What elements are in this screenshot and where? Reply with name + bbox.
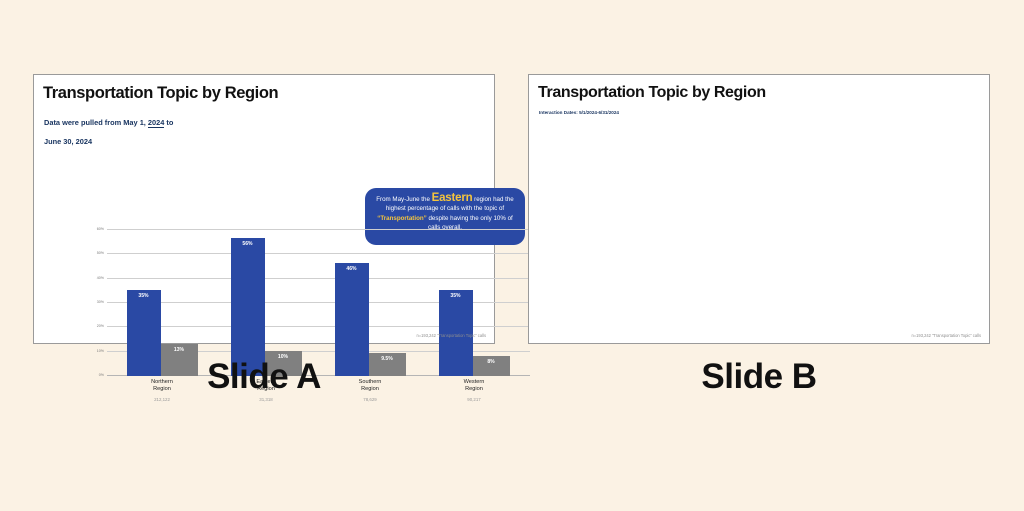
callout-a-highlight-eastern: Eastern bbox=[432, 192, 473, 204]
slide-a-subtitle-line1: Data were pulled from May 1, 2024 to bbox=[44, 118, 173, 128]
slide-a-ytick-60: 60% bbox=[80, 227, 104, 231]
slide-a-subtitle-underline: 2024 bbox=[148, 118, 164, 128]
slide-a-xlabel-southern-count: 78,629 bbox=[318, 397, 422, 402]
slide-b-title: Transportation Topic by Region bbox=[538, 84, 766, 102]
slide-a-bar-eastern-primary[interactable]: 56% bbox=[231, 238, 265, 376]
slide-a-group-eastern: 56% 10% bbox=[214, 227, 318, 376]
slide-b-caption: Slide B bbox=[528, 357, 990, 397]
slide-a-bars-western: 35% 8% bbox=[422, 227, 526, 376]
slide-a-xlabel-northern-count: 212,122 bbox=[110, 397, 214, 402]
slide-a-xlabel-eastern-count: 31,318 bbox=[214, 397, 318, 402]
callout-a-prefix: From May-June the bbox=[376, 196, 431, 203]
callout-a-highlight-transportation: “Transportation” bbox=[377, 215, 427, 222]
slide-b-subtitle: Interaction Dates: 5/1/2024-6/31/2024 bbox=[539, 110, 619, 116]
slide-a-ytick-40: 40% bbox=[80, 276, 104, 280]
slide-a-bar-groups: 35% 13% 56% bbox=[110, 227, 526, 376]
slide-a-ytick-20: 20% bbox=[80, 324, 104, 328]
slide-a-footnote: n=193,242 “Transportation Topic” calls bbox=[416, 333, 486, 338]
slide-a-bar-northern-secondary-label: 13% bbox=[161, 347, 198, 353]
slide-a-xlabel-western-count: 90,217 bbox=[422, 397, 526, 402]
slide-a-bar-western-primary-label: 35% bbox=[439, 293, 473, 299]
slide-a-bar-southern-primary-label: 46% bbox=[335, 266, 369, 272]
slide-a-bars-northern: 35% 13% bbox=[110, 227, 214, 376]
slide-a-group-northern: 35% 13% bbox=[110, 227, 214, 376]
slide-b-footnote: n=193,242 “Transportation Topic” calls bbox=[911, 333, 981, 338]
slide-a-group-western: 35% 8% bbox=[422, 227, 526, 376]
slide-b-content: Transportation Topic by Region Interacti… bbox=[529, 75, 989, 343]
slide-a-group-southern: 46% 9.5% bbox=[318, 227, 422, 376]
comparison-slides-stage: Transportation Topic by Region Data were… bbox=[0, 0, 1024, 511]
slide-a-chart: 60% 50% 40% 30% 20% 10% 0% bbox=[80, 227, 530, 377]
slide-a-caption: Slide A bbox=[33, 357, 495, 397]
slide-a-ytick-30: 30% bbox=[80, 300, 104, 304]
slide-a-subtitle-line2: June 30, 2024 bbox=[44, 137, 92, 146]
slide-a-content: Transportation Topic by Region Data were… bbox=[34, 75, 494, 343]
slide-a-title: Transportation Topic by Region bbox=[43, 84, 278, 103]
slide-a-bars-southern: 46% 9.5% bbox=[318, 227, 422, 376]
slide-a-card[interactable]: Transportation Topic by Region Data were… bbox=[33, 74, 495, 344]
slide-a-ytick-10: 10% bbox=[80, 349, 104, 353]
slide-a-bars-eastern: 56% 10% bbox=[214, 227, 318, 376]
slide-a-plot-area: 60% 50% 40% 30% 20% 10% 0% bbox=[80, 227, 530, 377]
slide-a-subtitle: Data were pulled from May 1, 2024 to Jun… bbox=[44, 108, 173, 146]
slide-a-bar-eastern-primary-label: 56% bbox=[231, 241, 265, 247]
slide-a-bar-northern-primary-label: 35% bbox=[127, 293, 161, 299]
slide-b-card[interactable]: Transportation Topic by Region Interacti… bbox=[528, 74, 990, 344]
slide-a-ytick-50: 50% bbox=[80, 251, 104, 255]
